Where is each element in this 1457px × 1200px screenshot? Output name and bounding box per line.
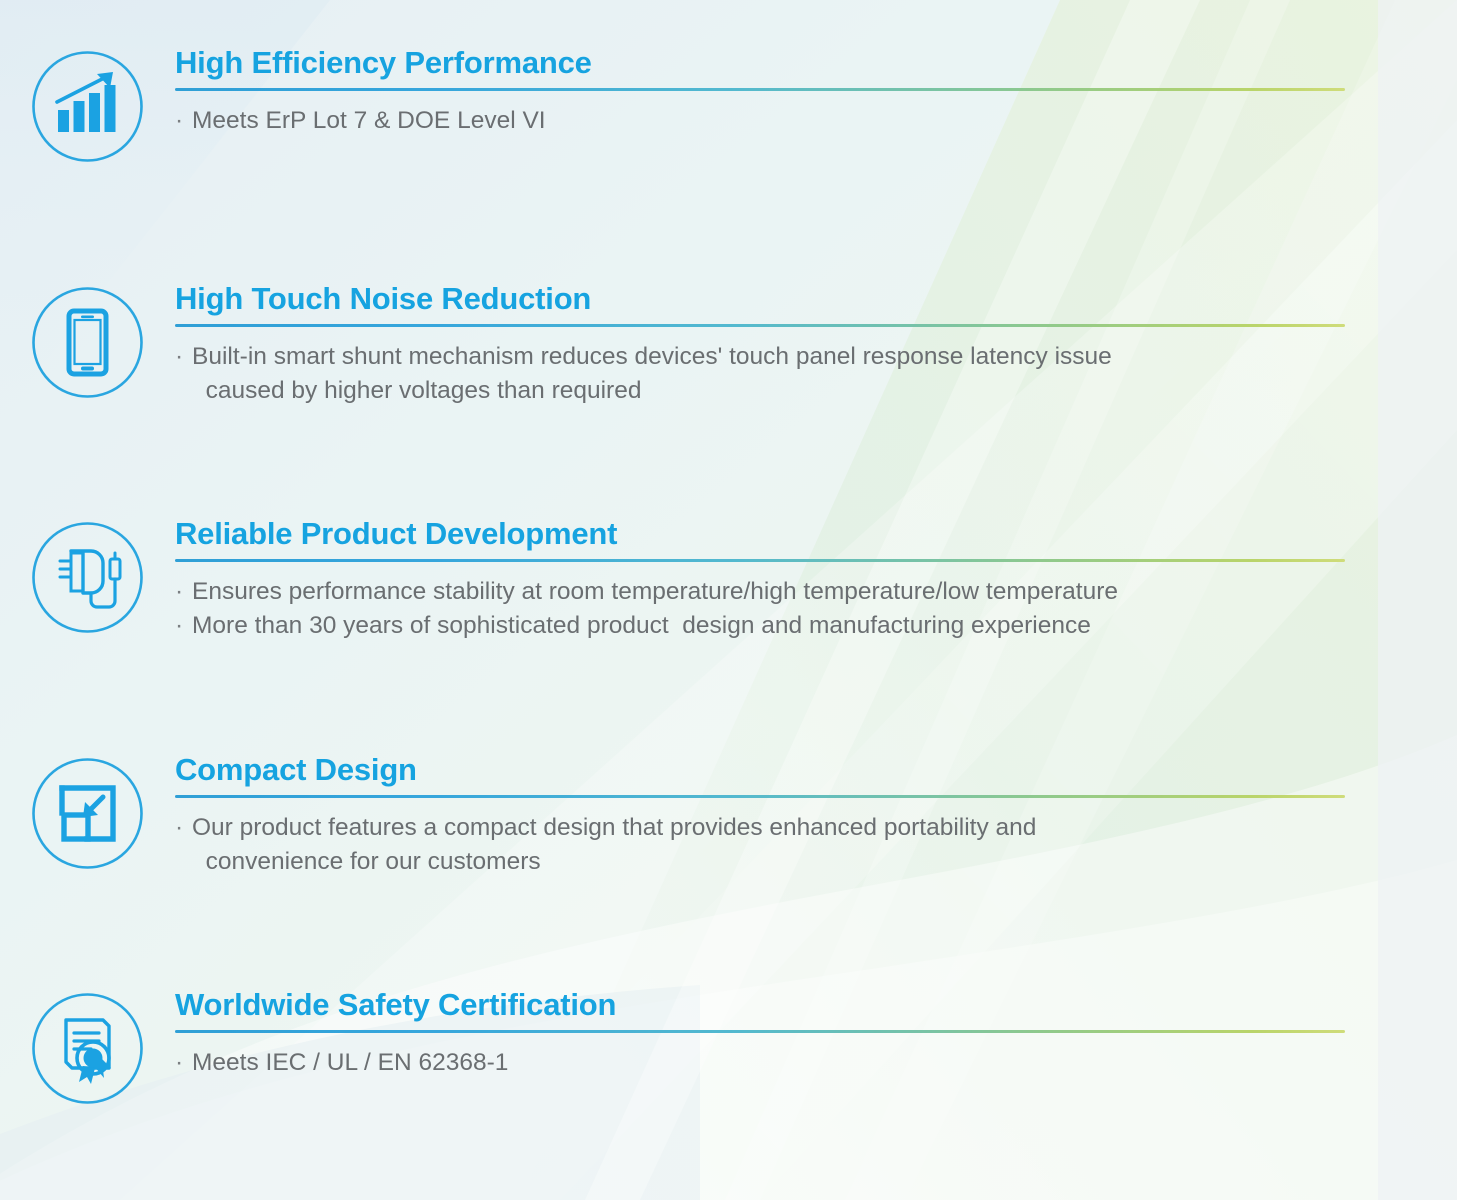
feature-divider bbox=[175, 324, 1345, 327]
feature-body: · Our product features a compact design … bbox=[175, 811, 1389, 879]
bullet-dot: · bbox=[175, 575, 192, 609]
feature-bullet-line: · More than 30 years of sophisticated pr… bbox=[175, 609, 1389, 643]
feature-icon-wrap bbox=[0, 988, 175, 1105]
feature-icon-wrap bbox=[0, 282, 175, 399]
feature-body: · Meets IEC / UL / EN 62368-1 bbox=[175, 1046, 1389, 1080]
feature-icon-wrap bbox=[0, 753, 175, 870]
feature-icon-wrap bbox=[0, 517, 175, 634]
bullet-dot: · bbox=[175, 1046, 192, 1080]
feature-divider bbox=[175, 795, 1345, 798]
feature-bullet-text: Meets ErP Lot 7 & DOE Level VI bbox=[192, 104, 1389, 138]
bullet-dot: · bbox=[175, 609, 192, 643]
feature-bullet-text: Our product features a compact design th… bbox=[192, 811, 1389, 879]
feature-item: High Touch Noise Reduction · Built-in sm… bbox=[0, 282, 1457, 407]
feature-content: High Touch Noise Reduction · Built-in sm… bbox=[175, 282, 1457, 407]
certificate-award-icon bbox=[31, 992, 144, 1105]
feature-bullet-line: · Meets IEC / UL / EN 62368-1 bbox=[175, 1046, 1389, 1080]
feature-divider bbox=[175, 559, 1345, 562]
feature-divider bbox=[175, 1030, 1345, 1033]
feature-title: High Touch Noise Reduction bbox=[175, 282, 1389, 317]
feature-item: High Efficiency Performance · Meets ErP … bbox=[0, 46, 1457, 163]
feature-body: · Ensures performance stability at room … bbox=[175, 575, 1389, 643]
feature-content: Compact Design · Our product features a … bbox=[175, 753, 1457, 878]
feature-body: · Built-in smart shunt mechanism reduces… bbox=[175, 340, 1389, 408]
feature-item: Compact Design · Our product features a … bbox=[0, 753, 1457, 878]
feature-bullet-line: · Ensures performance stability at room … bbox=[175, 575, 1389, 609]
feature-title: Reliable Product Development bbox=[175, 517, 1389, 552]
feature-title: Worldwide Safety Certification bbox=[175, 988, 1389, 1023]
feature-list: High Efficiency Performance · Meets ErP … bbox=[0, 0, 1457, 1200]
bullet-dot: · bbox=[175, 104, 192, 138]
feature-bullet-line: · Meets ErP Lot 7 & DOE Level VI bbox=[175, 104, 1389, 138]
feature-content: Worldwide Safety Certification · Meets I… bbox=[175, 988, 1457, 1080]
feature-bullet-text: Ensures performance stability at room te… bbox=[192, 575, 1389, 609]
feature-divider bbox=[175, 88, 1345, 91]
feature-body: · Meets ErP Lot 7 & DOE Level VI bbox=[175, 104, 1389, 138]
bullet-dot: · bbox=[175, 340, 192, 374]
feature-item: Worldwide Safety Certification · Meets I… bbox=[0, 988, 1457, 1105]
bullet-dot: · bbox=[175, 811, 192, 845]
feature-item: Reliable Product Development · Ensures p… bbox=[0, 517, 1457, 642]
feature-bullet-text: Built-in smart shunt mechanism reduces d… bbox=[192, 340, 1389, 408]
feature-bullet-text: More than 30 years of sophisticated prod… bbox=[192, 609, 1389, 643]
feature-content: Reliable Product Development · Ensures p… bbox=[175, 517, 1457, 642]
feature-content: High Efficiency Performance · Meets ErP … bbox=[175, 46, 1457, 138]
feature-title: Compact Design bbox=[175, 753, 1389, 788]
feature-title: High Efficiency Performance bbox=[175, 46, 1389, 81]
compact-shrink-icon bbox=[31, 757, 144, 870]
smartphone-icon bbox=[31, 286, 144, 399]
feature-icon-wrap bbox=[0, 46, 175, 163]
feature-bullet-line: · Our product features a compact design … bbox=[175, 811, 1389, 879]
feature-bullet-text: Meets IEC / UL / EN 62368-1 bbox=[192, 1046, 1389, 1080]
feature-bullet-line: · Built-in smart shunt mechanism reduces… bbox=[175, 340, 1389, 408]
power-adapter-icon bbox=[31, 521, 144, 634]
bar-chart-growth-icon bbox=[31, 50, 144, 163]
